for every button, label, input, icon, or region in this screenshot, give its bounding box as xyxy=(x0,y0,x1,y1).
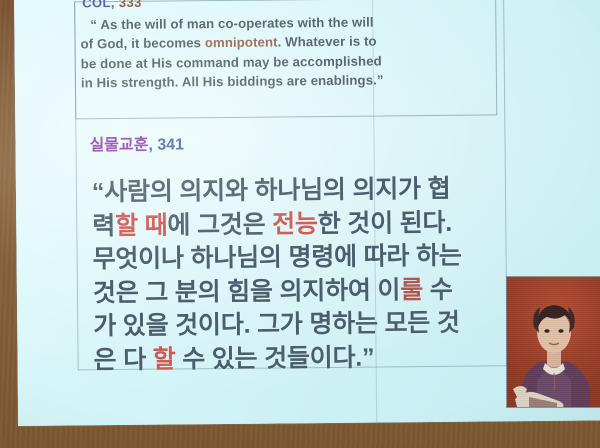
portrait-grain xyxy=(507,277,600,407)
korean-line-2-part-c: 한 것이 된다. xyxy=(318,208,453,237)
english-emphasis-word: omnipotent xyxy=(205,35,278,51)
korean-line-6-part-b: 수 있는 것들이다.” xyxy=(175,343,374,373)
korean-line-6-part-a: 은 다 xyxy=(93,345,152,374)
korean-page-number: , 341 xyxy=(148,136,184,153)
korean-line-6: 은 다 할 수 있는 것들이다.” xyxy=(93,340,507,377)
korean-line-1: “사람의 의지와 하나님의 의지가 협 xyxy=(92,172,506,209)
korean-line-4-part-b: 수 xyxy=(423,275,453,303)
korean-line-5: 가 있을 것이다. 그가 명하는 모든 것 xyxy=(93,306,507,343)
korean-line-2-part-b: 에 그것은 xyxy=(167,210,272,239)
korean-highlight-1: 할 때 xyxy=(115,211,168,240)
korean-highlight-4: 할 xyxy=(153,345,176,373)
english-line-2-part-a: of God, it becomes xyxy=(80,35,204,51)
korean-highlight-2: 전능 xyxy=(272,210,318,238)
korean-line-4: 것은 그 분의 힘을 의지하여 이룰 수 xyxy=(93,273,507,310)
portrait-photo xyxy=(507,277,600,407)
korean-quote-text: “사람의 의지와 하나님의 의지가 협 력할 때에 그것은 전능한 것이 된다.… xyxy=(92,172,508,377)
english-line-2-part-b: . Whatever is to xyxy=(278,34,377,50)
korean-highlight-3: 룰 xyxy=(400,276,423,304)
english-quote-heading: COL, 333 xyxy=(82,0,142,10)
korean-quote-heading: 실물교훈, 341 xyxy=(89,130,184,155)
slide-photo-screenshot: COL, 333 “ As the will of man co-operate… xyxy=(0,0,600,448)
english-line-4: in His strength. All His biddings are en… xyxy=(81,69,499,92)
english-quote-text: “ As the will of man co-operates with th… xyxy=(80,11,499,92)
english-source-label: COL, xyxy=(82,0,115,10)
korean-source-label: 실물교훈 xyxy=(89,137,148,155)
korean-line-2: 력할 때에 그것은 전능한 것이 된다. xyxy=(92,206,506,243)
korean-line-3: 무엇이나 하나님의 명령에 따라 하는 xyxy=(92,239,506,276)
korean-line-2-part-a: 력 xyxy=(92,212,115,240)
english-page-number: 333 xyxy=(119,0,142,10)
korean-line-4-part-a: 것은 그 분의 힘을 의지하여 이 xyxy=(93,276,401,307)
